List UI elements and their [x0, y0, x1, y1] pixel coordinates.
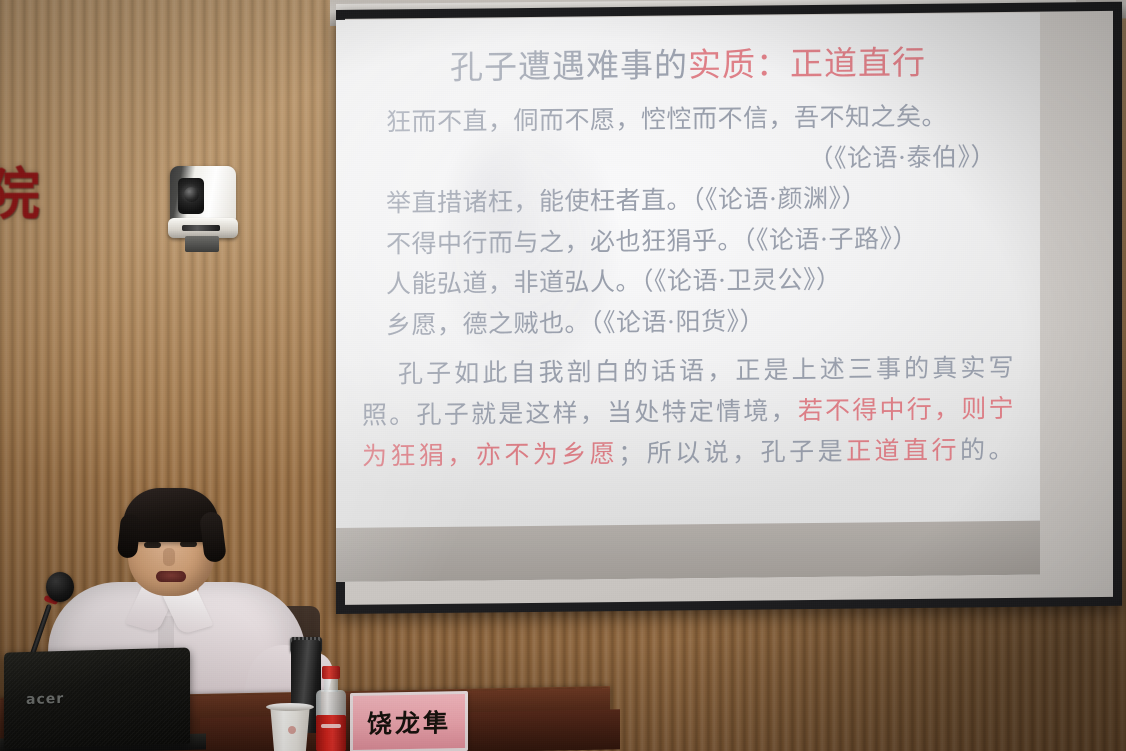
slide-title-plain: 孔子遭遇难事的 [450, 45, 688, 86]
slide-line-2: （《论语·泰伯》） [362, 139, 1014, 181]
name-plate-text: 饶龙隼 [367, 703, 451, 740]
slide-title-highlight: 实质：正道直行 [688, 43, 926, 84]
slide-line-3: 举直措诸枉，能使枉者直。（《论语·颜渊》） [362, 179, 1014, 221]
coca-cola-bottle [315, 666, 347, 751]
camera-lens-icon [178, 178, 204, 214]
microphone-icon [46, 572, 74, 602]
paragraph-line3-plain: ；所以说，孔子是 [618, 437, 846, 468]
slide-line-5: 人能弘道，非道弘人。（《论语·卫灵公》） [362, 260, 1014, 302]
slide-line-6: 乡愿，德之贼也。（《论语·阳货》） [362, 301, 1014, 343]
paragraph-line3-highlight-a: 为狂狷，亦不为乡愿 [362, 439, 618, 471]
slide-paragraph-line-1: 孔子如此自我剖白的话语，正是上述三事的真实写 [362, 350, 1014, 393]
presenter-hair [123, 488, 219, 542]
slide-content: 孔子遭遇难事的实质：正道直行 狂而不直，侗而不愿，悾悾而不信，吾不知之矣。 （《… [336, 13, 1040, 582]
slide-paragraph-line-2: 照。孔子就是这样，当处特定情境，若不得中行，则宁 [362, 391, 1014, 434]
presenter-mouth [156, 571, 186, 582]
paragraph-line3-tail: 的。 [960, 435, 1014, 465]
laptop-lid[interactable]: acer [4, 647, 190, 748]
bottle-cap [322, 666, 340, 679]
projected-slide: 孔子遭遇难事的实质：正道直行 狂而不直，侗而不愿，悾悾而不信，吾不知之矣。 （《… [336, 13, 1040, 582]
paragraph-line2-highlight: 若不得中行，则宁 [798, 394, 1014, 425]
wall-sign-text: 院 [0, 150, 44, 231]
paper-cup-rim [266, 703, 314, 711]
bottle-label [316, 715, 346, 751]
slide-line-1: 狂而不直，侗而不愿，悾悾而不信，吾不知之矣。 [362, 98, 1014, 140]
camera-wall-mount [185, 236, 219, 252]
presenter-eye-left [144, 542, 161, 548]
presenter-nose [163, 548, 175, 566]
camera-indicator-slot [182, 225, 220, 231]
paragraph-line2-plain: 照。孔子就是这样，当处特定情境， [362, 396, 798, 430]
name-plate: 饶龙隼 [350, 691, 468, 751]
slide-line-4: 不得中行而与之，必也狂狷乎。（《论语·子路》） [362, 220, 1014, 262]
laptop-brand-logo: acer [26, 691, 64, 708]
paragraph-line3-highlight-b: 正道直行 [846, 436, 960, 466]
slide-paragraph: 孔子如此自我剖白的话语，正是上述三事的真实写 照。孔子就是这样，当处特定情境，若… [362, 350, 1014, 475]
slide-body: 狂而不直，侗而不愿，悾悾而不信，吾不知之矣。 （《论语·泰伯》） 举直措诸枉，能… [362, 98, 1014, 475]
lecture-hall-photo: 院 孔子遭遇难事的实质：正道直行 狂而不直，侗而不愿，悾悾而不信，吾不知之矣。 … [0, 0, 1126, 751]
slide-paragraph-line-3: 为狂狷，亦不为乡愿；所以说，孔子是正道直行的。 [362, 432, 1014, 475]
camera-base-ring [168, 218, 238, 238]
slide-title: 孔子遭遇难事的实质：正道直行 [362, 41, 1014, 89]
camera-body [170, 166, 236, 222]
ptz-camera-icon [168, 160, 240, 252]
paper-cup-logo [288, 726, 296, 734]
bottle-neck [324, 678, 338, 692]
projection-letterbox [336, 521, 1040, 582]
